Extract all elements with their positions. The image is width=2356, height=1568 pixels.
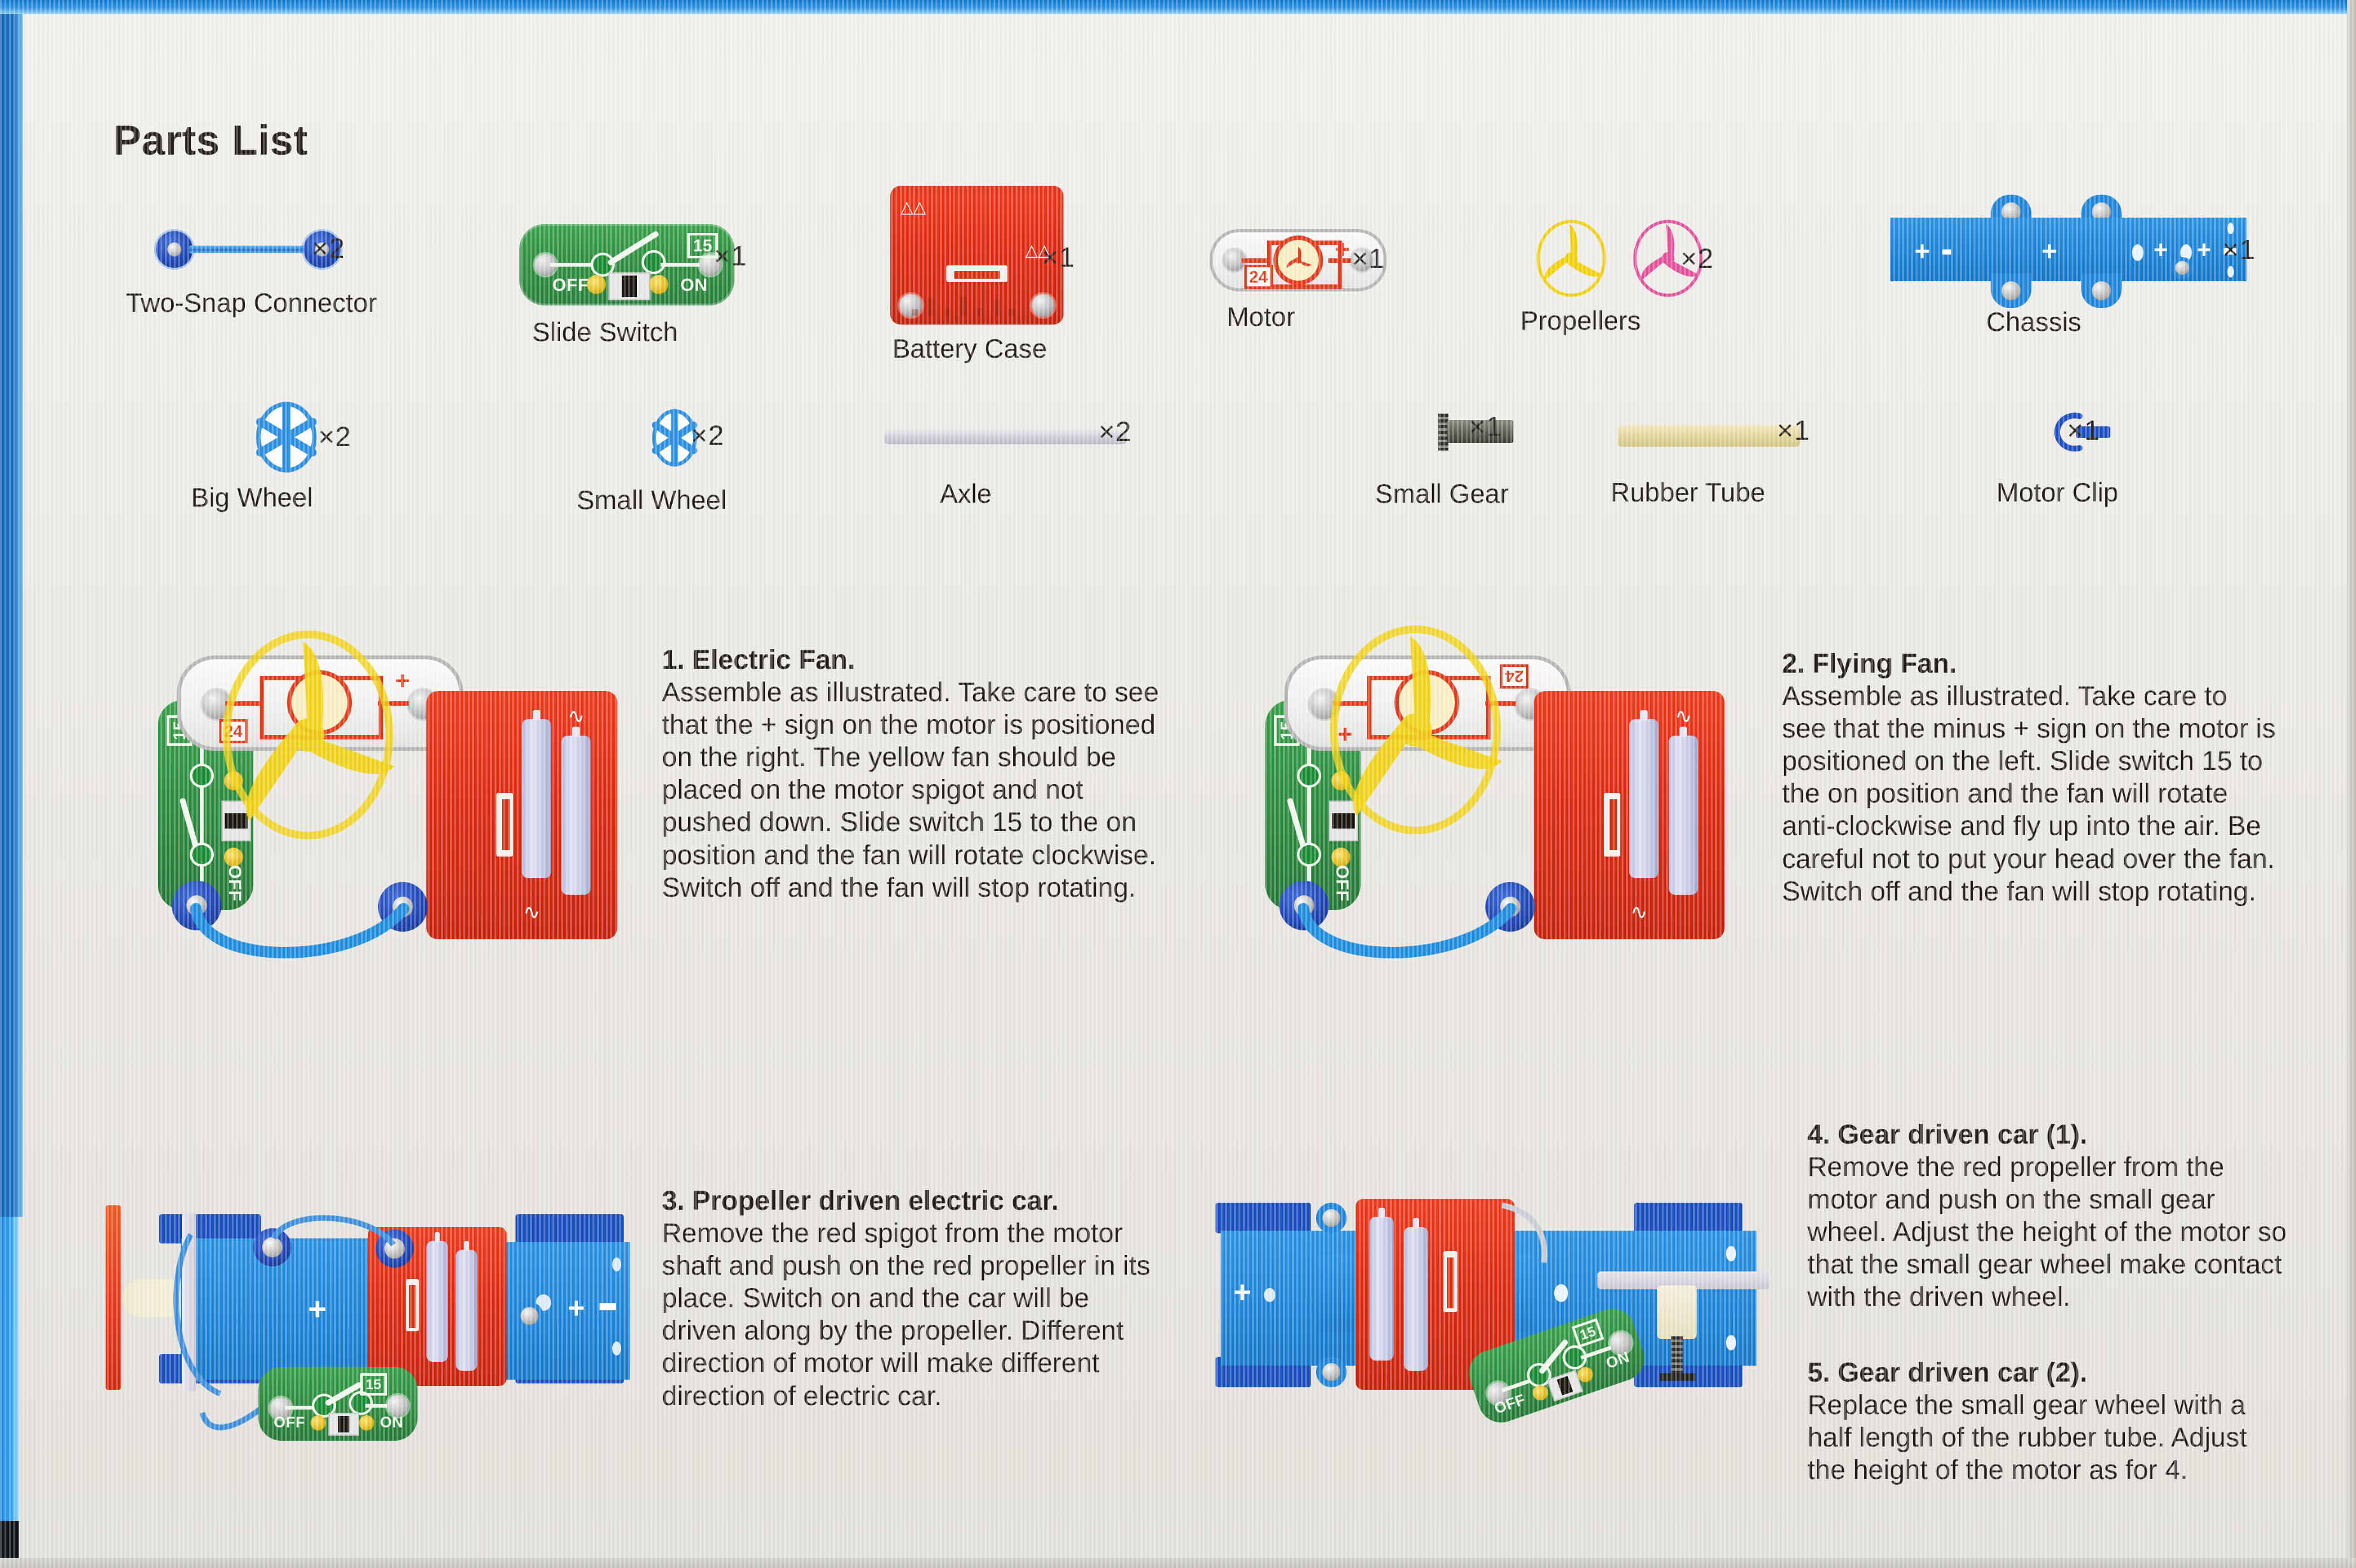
figure-propeller-yellow (213, 630, 403, 840)
switch-off-label: OFF (274, 1414, 305, 1432)
part-label: Motor (1227, 302, 1295, 332)
axle-icon (885, 430, 1126, 444)
part-label: Big Wheel (191, 482, 312, 513)
rubber-tube-icon (1618, 425, 1800, 447)
switch-on-label: ON (680, 275, 708, 295)
part-battery-case: △△ △△ ×1 Battery Case (856, 186, 1098, 325)
instruction-heading: 5. Gear driven car (2). (1807, 1357, 2291, 1389)
part-axle: ×2 Axle (840, 430, 1171, 444)
instruction-body: Assemble as illustrated. Take care to se… (662, 676, 1171, 904)
instruction-body: Remove the red spigot from the motor sha… (662, 1217, 1165, 1413)
part-label: Axle (940, 479, 992, 509)
part-label: Motor Clip (1996, 477, 2118, 508)
part-two-snap-connector: ×2 Two-Snap Connector (102, 229, 401, 270)
part-small-wheel: ×2 Small Wheel (579, 409, 770, 467)
figure-flying-fan: 15 OFF 24 + (1254, 630, 1712, 961)
part-quantity: ×1 (1469, 411, 1502, 443)
part-chassis: + + + + ×1 Chassis (1852, 210, 2285, 293)
instruction-body: Replace the small gear wheel with a half… (1807, 1389, 2291, 1487)
figure-propeller-yellow (1320, 625, 1511, 835)
box-edge-bottom (0, 1558, 2356, 1568)
part-small-gear: ×1 Small Gear (1375, 414, 1585, 451)
motor-polarity-plus: + (1335, 237, 1350, 262)
box-edge-left-upper (0, 14, 23, 1217)
instruction-body: Assemble as illustrated. Take care to se… (1782, 680, 2278, 908)
part-quantity: ×1 (1777, 415, 1810, 447)
instruction-heading: 3. Propeller driven electric car. (662, 1185, 1165, 1217)
instruction-heading: 2. Flying Fan. (1782, 648, 2278, 680)
instruction-heading: 1. Electric Fan. (662, 644, 1171, 676)
module-number: 15 (360, 1373, 387, 1396)
page-title: Parts List (113, 116, 308, 164)
instruction-flying-fan: 2. Flying Fan. Assemble as illustrated. … (1782, 648, 2278, 908)
figure-connector-wire (1254, 872, 1712, 967)
switch-slider[interactable] (608, 272, 650, 300)
switch-on-label: ON (380, 1414, 403, 1432)
big-wheel-icon (253, 401, 319, 473)
part-motor: 24 + ×1 Motor (1165, 229, 1432, 291)
instruction-gear-driven-car-2: 5. Gear driven car (2). Replace the smal… (1807, 1357, 2291, 1487)
instruction-gear-driven-car-1: 4. Gear driven car (1). Remove the red p… (1807, 1119, 2291, 1314)
box-edge-top (0, 0, 2356, 14)
part-quantity: ×1 (2067, 415, 2100, 447)
propeller-yellow-icon (1534, 219, 1609, 298)
slide-switch-icon: 15 OFF ON (519, 224, 734, 305)
figure-slide-switch: 15 OFF ON (258, 1367, 417, 1441)
part-quantity: ×2 (318, 421, 351, 453)
motor-fan-glyph (1281, 243, 1315, 277)
instruction-propeller-driven-car: 3. Propeller driven electric car. Remove… (662, 1185, 1165, 1413)
figure-gear-driven-car: + 15 OFF (1203, 1177, 1788, 1432)
part-big-wheel: ×2 Big Wheel (191, 401, 382, 473)
part-label: Slide Switch (532, 317, 678, 347)
part-quantity: ×2 (1681, 243, 1714, 275)
part-slide-switch: 15 OFF ON ×1 Slide Switch (490, 224, 764, 305)
figure-propeller-driven-car: + + 15 OFF (95, 1184, 649, 1438)
battery-case-icon: △△ △△ (890, 186, 1063, 325)
part-label: Two-Snap Connector (126, 288, 377, 318)
switch-on-label: ON (1604, 1348, 1632, 1373)
part-quantity: ×2 (1098, 416, 1132, 448)
instruction-body: Remove the red propeller from the motor … (1807, 1151, 2291, 1314)
figure-connector-wire (146, 872, 605, 967)
part-motor-clip: ×1 Motor Clip (1967, 407, 2183, 457)
instruction-sheet: Parts List ×2 Two-Snap Connector 15 OFF … (0, 0, 2356, 1568)
instruction-heading: 4. Gear driven car (1). (1807, 1119, 2291, 1151)
chassis-icon: + + + + (1890, 210, 2247, 293)
part-label: Rubber Tube (1611, 477, 1765, 508)
part-quantity: ×2 (691, 420, 724, 452)
module-number: 15 (1571, 1318, 1604, 1348)
part-quantity: ×1 (2222, 234, 2255, 266)
part-quantity: ×2 (312, 233, 345, 265)
part-label: Small Gear (1375, 479, 1509, 509)
switch-off-label: OFF (552, 275, 589, 295)
figure-electric-fan: 15 OFF 24 + (146, 630, 605, 961)
instruction-electric-fan: 1. Electric Fan. Assemble as illustrated… (662, 644, 1171, 904)
part-rubber-tube: ×1 Rubber Tube (1578, 425, 1839, 447)
part-label: Propellers (1520, 305, 1641, 336)
part-label: Battery Case (892, 333, 1047, 364)
module-number: 24 (1244, 265, 1273, 289)
module-number: 15 (687, 233, 718, 258)
box-edge-left-lower (0, 1217, 19, 1535)
part-propellers: ×2 Propellers (1492, 219, 1760, 298)
box-edge-right (2347, 0, 2356, 1568)
part-quantity: ×1 (1042, 242, 1075, 274)
part-quantity: ×1 (1352, 243, 1385, 275)
part-quantity: ×1 (714, 241, 747, 272)
part-label: Small Wheel (577, 485, 727, 515)
part-label: Chassis (1986, 307, 2081, 337)
